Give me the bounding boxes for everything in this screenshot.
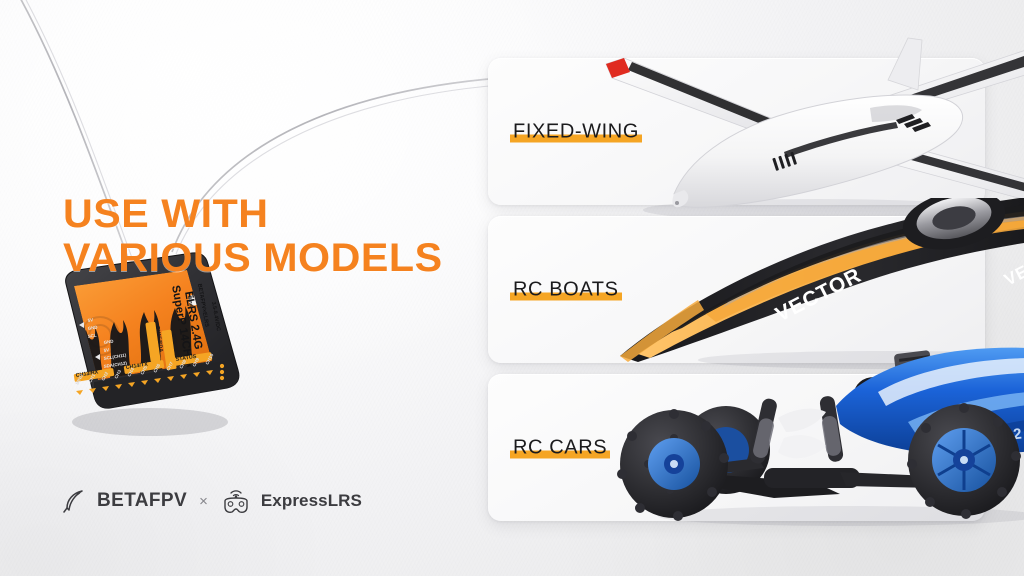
- plane-canopy: [870, 105, 922, 122]
- brand-name-expresslrs: ExpressLRS: [261, 491, 362, 511]
- boat-decal-secondary: VECTOR SR80: [1001, 214, 1024, 289]
- plane-wing-rear-right: [864, 48, 1024, 122]
- card-label-fixed-wing: FIXED-WING: [510, 120, 642, 143]
- car-chassis: [694, 458, 936, 498]
- plane-wing-stripe-1: [628, 62, 774, 128]
- plane-wing-front-right: [870, 138, 1024, 206]
- car-shock-mid: [819, 395, 844, 463]
- car-shell-graphic-3: [996, 414, 1024, 436]
- boat-bow-accent: [620, 300, 704, 362]
- car-shadow: [658, 506, 1024, 526]
- status-led-group: [220, 364, 224, 380]
- svg-text:5V: 5V: [103, 347, 109, 353]
- category-card-rc-cars[interactable]: BX-2: [488, 374, 985, 521]
- card-label-rc-boats: RC BOATS: [510, 278, 622, 301]
- car-shell-decal: BX-2: [987, 425, 1023, 445]
- plane-body-stripe: [784, 122, 898, 158]
- boat-stripe-orange-2: [706, 214, 1024, 322]
- boat-stripe-black: [672, 198, 1024, 332]
- brand-name-betafpv: BETAFPV: [97, 490, 187, 512]
- card-label-rc-cars: RC CARS: [510, 436, 610, 459]
- car-shell-graphic-1: [878, 358, 1024, 406]
- boat-stripe-gray: [722, 210, 1024, 308]
- boat-shadow: [698, 351, 1024, 369]
- svg-text:5V: 5V: [87, 317, 93, 323]
- banner-canvas: USE WITH VARIOUS MODELS: [0, 0, 1024, 576]
- plane-vertical-fin: [888, 38, 922, 90]
- plane-decal-chevrons: [896, 114, 931, 132]
- plane-wingtip-red-1: [606, 58, 630, 78]
- car-wheel-rear-right: [907, 403, 1021, 519]
- boat-engine-cowl: [897, 198, 1010, 258]
- car-body-mount: [778, 409, 826, 432]
- plane-nose: [672, 190, 688, 207]
- plane-fuselage: [674, 95, 963, 207]
- rc-transmitter-antenna-icon: [220, 487, 252, 515]
- boat-engine-inner: [913, 198, 996, 245]
- headline-line-1: USE WITH: [63, 192, 443, 236]
- feather-icon: [62, 488, 88, 514]
- car-shell: [836, 348, 1024, 455]
- plane-nose-port: [675, 201, 679, 205]
- car-wing-white: [778, 435, 826, 458]
- plane-wing-stripe-2: [878, 54, 1024, 114]
- car-wheel-rear-far: [682, 406, 770, 494]
- car-rim-spokes: [938, 430, 990, 490]
- car-tire-tread-fl: [617, 409, 729, 521]
- plane-wing-stripe-3: [882, 144, 1024, 194]
- brand-separator: ×: [199, 493, 208, 510]
- card-label-text: RC CARS: [510, 436, 610, 458]
- receiver-shadow: [72, 408, 228, 436]
- car-shock-rear: [946, 373, 973, 439]
- category-card-fixed-wing[interactable]: FIXED-WING: [488, 58, 985, 205]
- boat-hull: [620, 198, 1024, 362]
- boat-decal-primary: VECTOR: [772, 264, 865, 327]
- boat-engine-core: [930, 203, 978, 234]
- brand-row: BETAFPV × ExpressLRS: [62, 487, 362, 515]
- plane-vent-slots: [772, 152, 797, 171]
- card-label-text: RC BOATS: [510, 278, 622, 300]
- car-tire-tread-rr: [907, 403, 1021, 519]
- page-title: USE WITH VARIOUS MODELS: [63, 192, 432, 280]
- boat-stripe-orange-1: [638, 202, 1024, 358]
- car-air-filter: [854, 377, 894, 411]
- car-shock-front: [749, 397, 778, 465]
- car-shell-graphic-2: [908, 390, 1024, 434]
- headline-line-2: VARIOUS MODELS: [63, 236, 443, 280]
- car-wheel-front-left: [617, 409, 729, 521]
- card-label-text: FIXED-WING: [510, 120, 642, 142]
- category-card-rc-boats[interactable]: VECTOR VECTOR SR80 RC BOATS: [488, 216, 985, 363]
